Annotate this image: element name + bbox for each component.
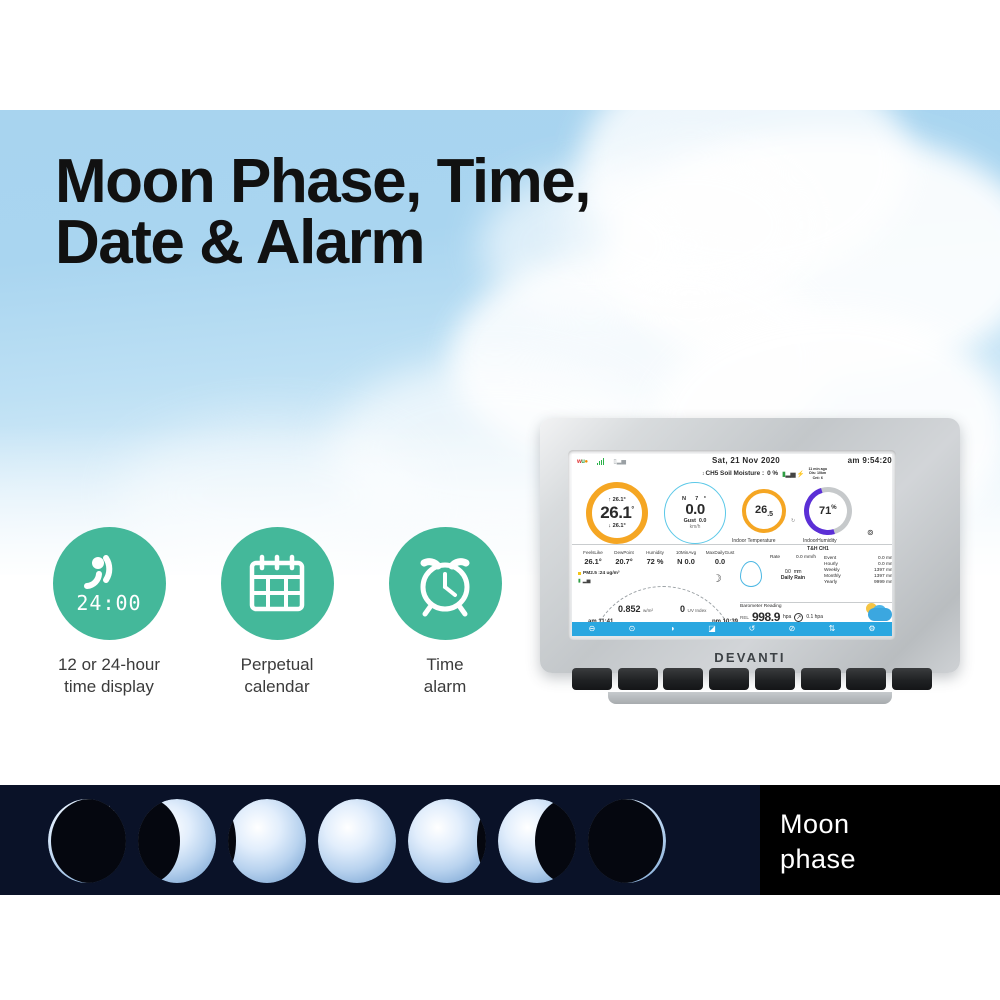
device-button[interactable] [892,668,932,690]
daily-rain-label: Daily Rain [762,575,824,581]
moon-phase-waning-crescent [588,799,666,883]
minus-circle-icon[interactable]: ⊖ [586,625,598,633]
uv-unit: UV Index [688,608,707,613]
barometer-unit: hpa [783,614,791,620]
gauge-row: ↑ 26.1° 26.1° ↓ 26.1° ⌄ N 7 ° 0.0 Gust 0… [572,476,892,548]
stat-10minavg: 10MinAvg N 0.0 [670,550,702,566]
device-button[interactable] [618,668,658,690]
feature-label: Perpetual calendar [212,654,342,699]
lcd-status-bar: wu● ▯▂▅ Sat, 21 Nov 2020 am 9:54:20 ↕ CH… [572,454,892,476]
stat-value: N 0.0 [670,557,702,566]
stat-value: 72 % [640,557,670,566]
moon-phase-list [48,799,708,883]
lcd-time: am 9:54:20 [848,456,892,465]
moon-phase-label: Moon phase [780,807,980,876]
water-drop-icon [740,561,762,587]
rain-body: Rate 0.0 mm/h 0.0 mm Daily Rain Event0.0… [740,555,892,587]
moon-phase-full [318,799,396,883]
outdoor-low: ↓ 26.1° [608,523,625,529]
feature-list: 24:00 12 or 24-hour time display Perpetu… [44,527,514,699]
device-button-row[interactable] [572,668,932,690]
solar-radiation: 0.852 w/m² [618,604,653,614]
barometer-panel: Barometer Reading REL 998.9 hpa ↗ 0.1 hp… [740,604,892,624]
moon-phase-first-quarter [228,799,306,883]
device-stand [608,692,892,704]
stat-label: DewPoint [608,550,640,555]
outdoor-temperature-gauge: ↑ 26.1° 26.1° ↓ 26.1° [586,482,648,544]
signal-24h-icon: 24:00 [53,527,166,640]
lcd-date: Sat, 21 Nov 2020 [712,456,780,465]
status-icon-group: wu● ▯▂▅ [577,458,626,465]
solar-unit: w/m² [643,608,653,613]
device-brand: DEVANTI [540,650,960,665]
gear-icon[interactable]: ⚙ [866,625,878,633]
rain-daily: Rate 0.0 mm/h 0.0 mm Daily Rain [762,555,824,587]
svg-text:24:00: 24:00 [76,591,141,615]
stat-dewpoint: DewPoint 20.7° [608,550,640,566]
stat-label: Humidity [640,550,670,555]
daily-rain-value: 0.0 mm [762,560,824,576]
barometer-trend: 0.1 hpa [806,614,823,620]
wind-gauge: N 7 ° 0.0 Gust 0.0 km/h [664,482,726,544]
weather-station-device: wu● ▯▂▅ Sat, 21 Nov 2020 am 9:54:20 ↕ CH… [512,418,990,710]
indoor-temperature-gauge: 26.5 [742,489,786,533]
stat-humidity: Humidity 72 % [640,550,670,566]
page-title: Moon Phase, Time, Date & Alarm [55,152,675,274]
moon-phase-last-quarter [498,799,576,883]
lightning-ago: 11 min ago [808,467,827,471]
feature-label: Time alarm [380,654,510,699]
stat-value: 20.7° [608,557,640,566]
signal-bars-icon [597,458,605,465]
stat-label: FeelsLike [578,550,608,555]
moon-phase-waxing-crescent [138,799,216,883]
moon-phase-new [48,799,126,883]
moon-phase-strip: ✦ Moon phase [0,785,1000,895]
stats-cells: FeelsLike 26.1° DewPoint 20.7° Humidity … [578,550,738,566]
no-signal-icon[interactable]: ⊘ [786,625,798,633]
uv-value: 0 [680,604,685,614]
stat-value: 26.1° [578,557,608,566]
sensor-icon: ▯▂▅ [613,458,626,465]
device-button[interactable] [846,668,886,690]
outdoor-temperature-value: 26.1° [600,503,633,523]
indoor-humidity-value: 71% [819,505,837,517]
pm25-dot-icon [578,572,581,575]
rain-channel: T&H CH1 [740,546,892,552]
stat-label: 10MinAvg [670,550,702,555]
device-button[interactable] [755,668,795,690]
feature-item-calendar: Perpetual calendar [212,527,342,699]
arrow-up-right-icon: ↗ [794,613,803,622]
moon-phase-icon: ☽ [712,572,722,585]
barometer-rel: REL [740,615,749,620]
sun-cloud-icon [864,603,892,623]
uv-index: 0 UV Index [680,604,706,614]
mode-icon: ⊚ [867,528,874,537]
divider [572,544,892,545]
solar-value: 0.852 [618,604,641,614]
moon-phase-waning-gibbous [408,799,486,883]
indoor-humidity-gauge: 71% [796,479,861,544]
rain-row: Yearly9999 mm [824,580,892,586]
dot-circle-icon[interactable]: ⊙ [626,625,638,633]
rain-panel: T&H CH1 Rate 0.0 mm/h 0.0 mm Daily Rain … [740,546,892,587]
up-down-arrows-icon[interactable]: ⇅ [826,625,838,633]
wind-speed-value: 0.0 [685,501,704,518]
alarm-clock-icon [389,527,502,640]
pm25-value: PM2.5 :24 ug/m³ [583,571,620,576]
rain-rate-label: Rate [770,555,780,560]
rain-totals: Event0.0 mm Hourly0.0 mm Weekly1397 mm M… [824,555,892,587]
device-button[interactable] [572,668,612,690]
stat-feelslike: FeelsLike 26.1° [578,550,608,566]
stat-maxdailygust: MaxDailyGust 0.0 [702,550,738,566]
indoor-temperature-value: 26.5 [755,504,773,518]
wu-logo-icon: wu● [577,459,588,465]
brightness-icon[interactable]: ◪ [706,625,718,633]
feature-label: 12 or 24-hour time display [44,654,174,699]
lcd-screen[interactable]: wu● ▯▂▅ Sat, 21 Nov 2020 am 9:54:20 ↕ CH… [572,454,892,636]
device-button[interactable] [801,668,841,690]
contrast-icon[interactable]: ◑ [666,625,678,633]
device-button[interactable] [663,668,703,690]
lightning-distance: Dis: 10km [809,471,826,475]
battery-icon: ▮ [578,578,581,584]
calendar-icon [221,527,334,640]
feature-item-alarm: Time alarm [380,527,510,699]
refresh-icon[interactable]: ↺ [746,625,758,633]
sync-icon: ↻ [791,518,795,524]
feature-item-time-display: 24:00 12 or 24-hour time display [44,527,174,699]
stat-label: MaxDailyGust [702,550,738,555]
lcd-bezel: wu● ▯▂▅ Sat, 21 Nov 2020 am 9:54:20 ↕ CH… [568,450,896,640]
sensor-icon: ▂▅ [583,578,591,584]
device-button[interactable] [709,668,749,690]
stat-value: 0.0 [702,557,738,566]
wind-unit: km/h [690,524,701,530]
lcd-toolbar[interactable]: ⊖ ⊙ ◑ ◪ ↺ ⊘ ⇅ ⚙ [572,622,892,636]
